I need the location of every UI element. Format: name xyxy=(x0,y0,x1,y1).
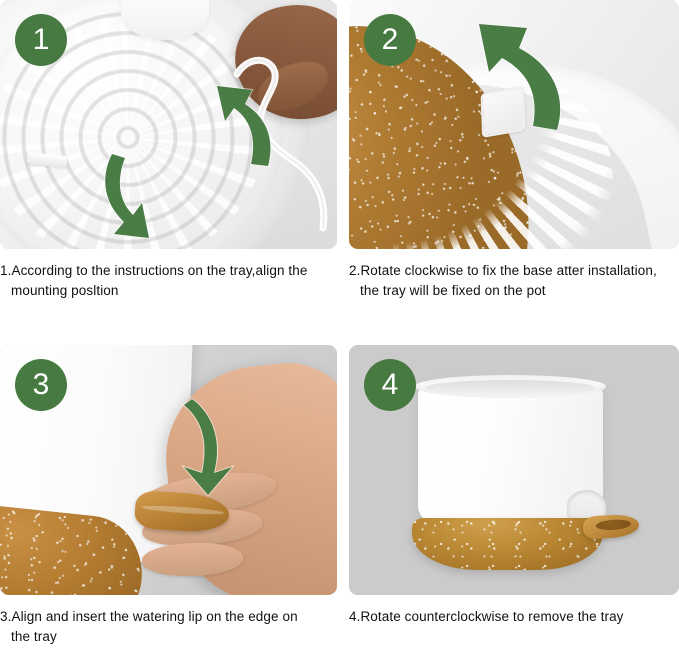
step-badge-1: 1 xyxy=(15,14,67,66)
step-badge-4: 4 xyxy=(364,359,416,411)
step-3-photo: 3 xyxy=(0,345,337,595)
step-1-caption-line2: mounting posltion xyxy=(0,281,333,301)
step-3-caption-line1: 3.Align and insert the watering lip on t… xyxy=(0,609,298,624)
watering-spout xyxy=(583,513,641,539)
step-cell-4: 4 4.Rotate counterclockwise to remove th… xyxy=(349,345,679,652)
step-badge-3: 3 xyxy=(15,359,67,411)
step-cell-2: 2 2.Rotate clockwise to fix the base att… xyxy=(349,0,679,316)
arrow-up-curved-icon xyxy=(205,78,295,173)
step-3-caption: 3.Align and insert the watering lip on t… xyxy=(0,607,337,646)
step-2-caption-line1: 2.Rotate clockwise to fix the base atter… xyxy=(349,263,657,278)
arrow-clockwise-curved-icon xyxy=(461,18,601,138)
step-1-caption-line1: 1.According to the instructions on the t… xyxy=(0,263,307,278)
arrow-down-curved-icon xyxy=(170,393,250,501)
step-badge-2: 2 xyxy=(364,14,416,66)
step-cell-1: 1 1.According to the instructions on the… xyxy=(0,0,337,316)
step-1-photo: 1 xyxy=(0,0,337,249)
speckle-texture xyxy=(412,518,603,571)
step-2-caption: 2.Rotate clockwise to fix the base atter… xyxy=(349,261,679,300)
step-3-caption-line2: the tray xyxy=(0,627,333,647)
step-1-caption: 1.According to the instructions on the t… xyxy=(0,261,337,300)
step-4-caption-line1: 4.Rotate counterclockwise to remove the … xyxy=(349,609,624,624)
step-2-caption-line2: the tray will be fixed on the pot xyxy=(349,281,675,301)
step-4-caption: 4.Rotate counterclockwise to remove the … xyxy=(349,607,679,627)
step-2-photo: 2 xyxy=(349,0,679,249)
step-4-photo: 4 xyxy=(349,345,679,595)
steps-grid: 1 1.According to the instructions on the… xyxy=(0,0,679,652)
instruction-sheet: 1 1.According to the instructions on the… xyxy=(0,0,679,652)
arrow-down-curved-icon xyxy=(92,148,182,244)
tan-speckled-tray xyxy=(412,518,603,571)
step-cell-3: 3 3.Align and insert the watering lip on… xyxy=(0,345,337,652)
